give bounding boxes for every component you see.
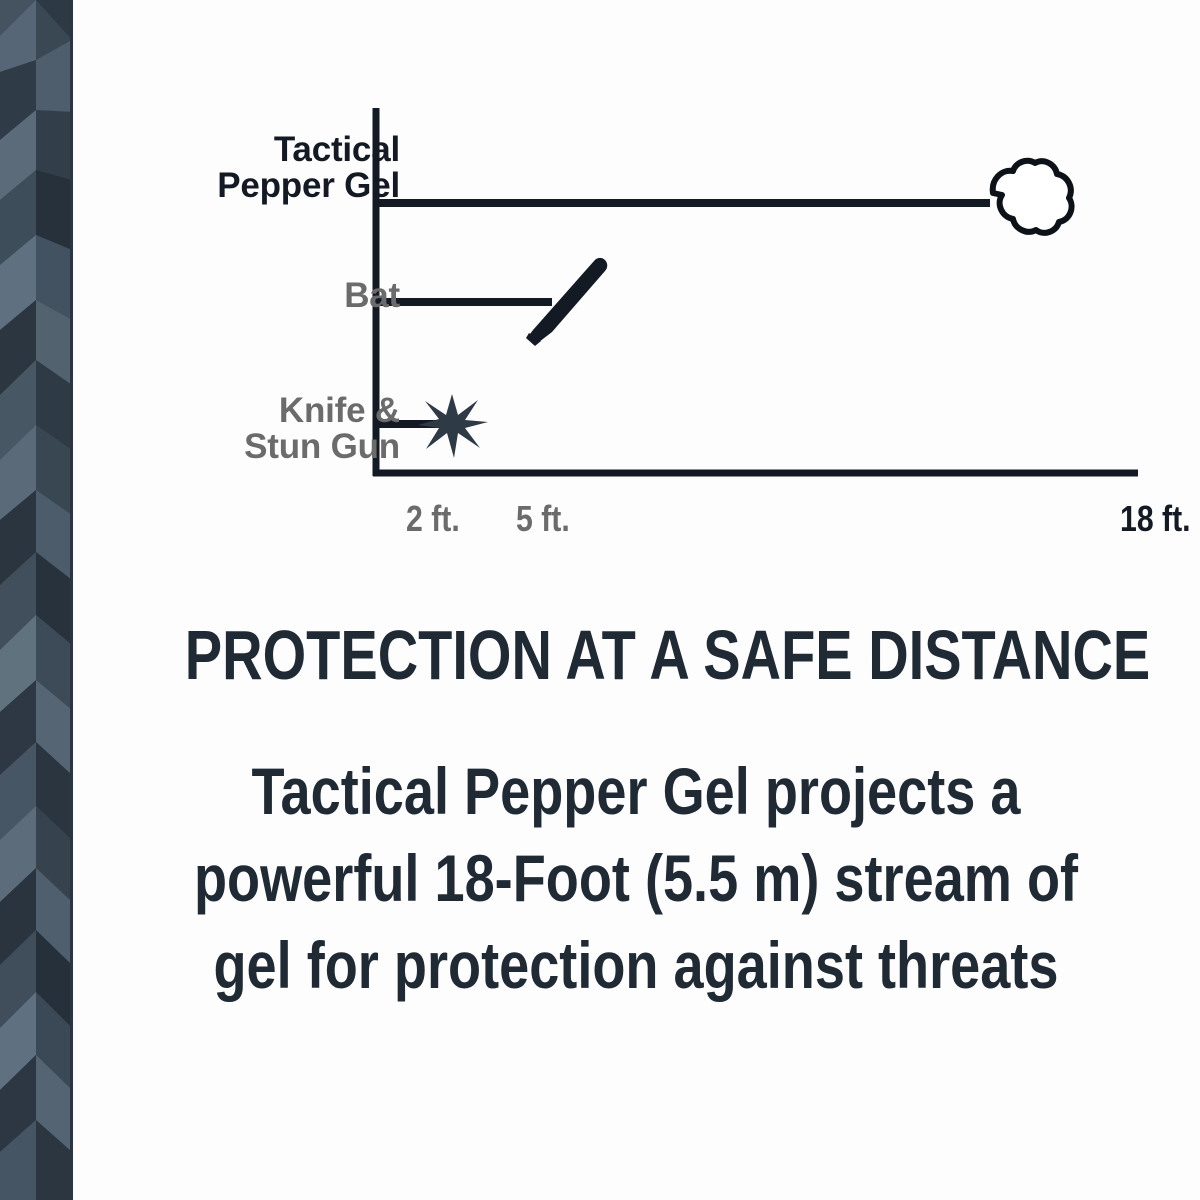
infographic-page: Tactical Pepper Gel Bat Knife & Stun Gun…: [0, 0, 1200, 1200]
gel-splat-cloud-icon: [993, 161, 1072, 233]
x-tick-label-2ft: 2 ft.: [406, 498, 460, 540]
spark-burst-icon: [418, 394, 488, 458]
y-label-line-2: Pepper Gel: [160, 168, 400, 204]
left-border-edge: [70, 0, 73, 1200]
body-copy: Tactical Pepper Gel projects a powerful …: [72, 748, 1200, 1009]
distance-comparison-chart: Tactical Pepper Gel Bat Knife & Stun Gun…: [120, 80, 1180, 560]
x-tick-label-18ft: 18 ft.: [1120, 498, 1191, 540]
y-label-bat: Bat: [160, 278, 400, 314]
y-label-line-1: Bat: [160, 278, 400, 314]
body-line-1: Tactical Pepper Gel projects a: [174, 748, 1099, 835]
y-label-line-1: Knife &: [160, 393, 400, 429]
headline: PROTECTION AT A SAFE DISTANCE: [185, 620, 1087, 690]
body-line-2: powerful 18-Foot (5.5 m) stream of: [174, 835, 1099, 922]
copy-block: PROTECTION AT A SAFE DISTANCE Tactical P…: [72, 620, 1200, 1009]
y-label-knife-stun-gun: Knife & Stun Gun: [160, 393, 400, 466]
left-border-pattern: [0, 0, 72, 1200]
y-label-line-2: Stun Gun: [160, 429, 400, 465]
y-label-line-1: Tactical: [160, 132, 400, 168]
facet-pattern-svg: [0, 0, 72, 1200]
x-tick-label-5ft: 5 ft.: [516, 498, 570, 540]
y-label-tactical-pepper-gel: Tactical Pepper Gel: [160, 132, 400, 205]
body-line-3: gel for protection against threats: [174, 922, 1099, 1009]
